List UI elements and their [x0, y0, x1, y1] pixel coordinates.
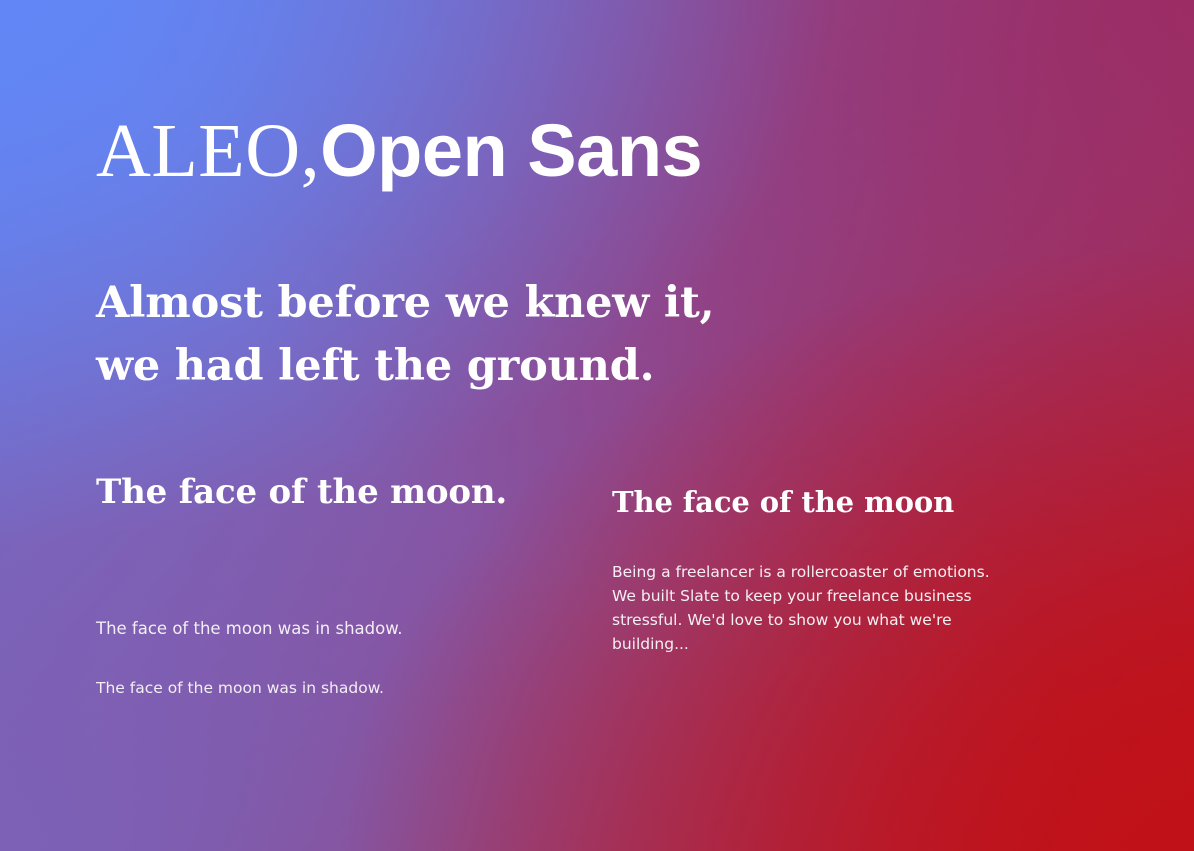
right-column-heading: The face of the moon — [612, 482, 1002, 522]
lead-heading: Almost before we knew it, we had left th… — [96, 272, 714, 398]
lead-heading-line-1: Almost before we knew it, — [96, 272, 714, 335]
lead-heading-line-2: we had left the ground. — [96, 335, 714, 398]
title-sans-part: Open Sans — [320, 109, 702, 192]
right-column: The face of the moon Being a freelancer … — [612, 482, 1002, 656]
left-column-body-primary: The face of the moon was in shadow. — [96, 617, 566, 641]
left-column: The face of the moon. The face of the mo… — [96, 470, 566, 700]
title-serif-part: ALEO, — [96, 109, 320, 193]
page-title: ALEO,Open Sans — [96, 113, 702, 189]
right-column-paragraph: Being a freelancer is a rollercoaster of… — [612, 560, 1002, 656]
left-column-heading: The face of the moon. — [96, 470, 566, 514]
left-column-body-secondary: The face of the moon was in shadow. — [96, 677, 566, 700]
specimen-content: ALEO,Open Sans Almost before we knew it,… — [0, 0, 1194, 851]
specimen-canvas: ALEO,Open Sans Almost before we knew it,… — [0, 0, 1194, 851]
